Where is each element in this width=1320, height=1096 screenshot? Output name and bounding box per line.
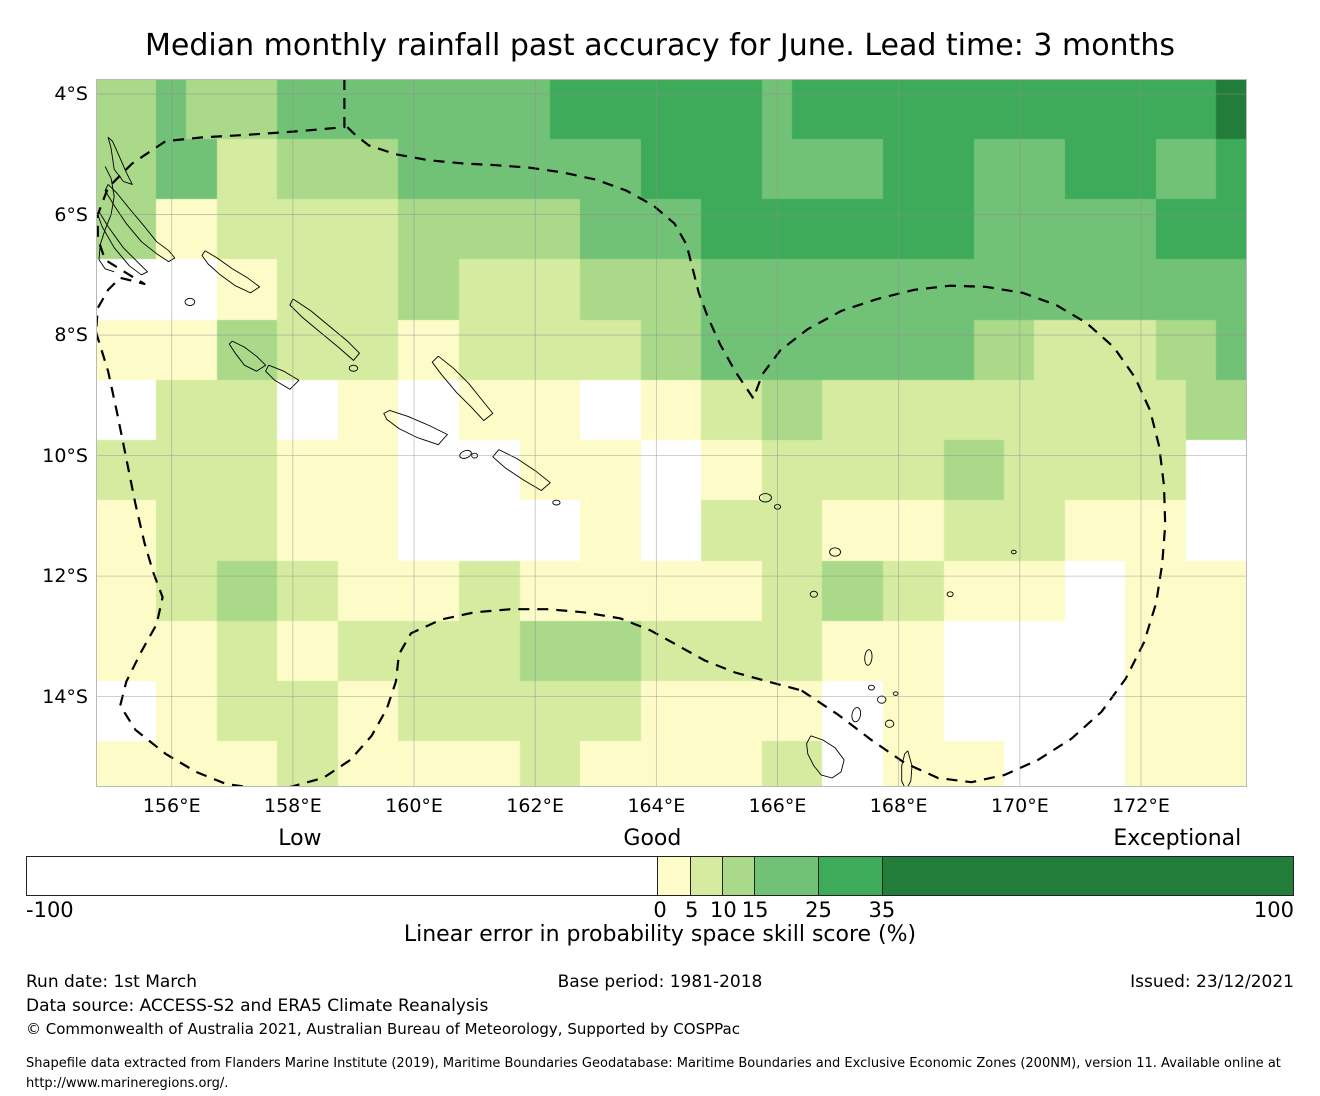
colorbar-tick-5: 25 [805,898,832,922]
colorbar-tick-0: -100 [26,898,74,922]
colorbar-tick-4: 15 [742,898,769,922]
x-axis-tick-1: 158°E [264,795,322,817]
colorbar-category-low: Low [278,826,321,851]
x-axis-tick-2: 160°E [385,795,443,817]
graticule-gridlines [96,79,1247,787]
colorbar-tick-7: 100 [1254,898,1294,922]
colorbar-segment-4 [754,857,818,895]
copyright-notice: © Commonwealth of Australia 2021, Austra… [26,1020,740,1038]
x-axis-tick-8: 172°E [1112,795,1170,817]
x-axis-tick-4: 164°E [627,795,685,817]
y-axis-tick-3: 10°S [42,445,88,467]
y-axis-tick-2: 8°S [54,324,88,346]
colorbar-tick-3: 10 [710,898,737,922]
x-axis-tick-0: 156°E [143,795,201,817]
shapefile-attribution-line1: Shapefile data extracted from Flanders M… [26,1056,1281,1071]
y-axis-tick-1: 6°S [54,204,88,226]
colorbar-segment-6 [882,857,1293,895]
shapefile-attribution-line2: http://www.marineregions.org/. [26,1076,228,1091]
footer: Run date: 1st March Base period: 1981-20… [0,972,1320,1096]
colorbar-category-exceptional: Exceptional [1113,826,1241,851]
colorbar-segment-2 [690,857,722,895]
x-axis-tick-5: 166°E [749,795,807,817]
longitude-axis: 156°E158°E160°E162°E164°E166°E168°E170°E… [0,795,1320,825]
colorbar-tick-6: 35 [869,898,896,922]
y-axis-tick-4: 12°S [42,565,88,587]
colorbar-axis-label: Linear error in probability space skill … [0,922,1320,947]
colorbar-category-good: Good [623,826,681,851]
data-source: Data source: ACCESS-S2 and ERA5 Climate … [26,996,488,1016]
colorbar-segment-0 [27,857,657,895]
colorbar-segment-1 [657,857,689,895]
map-plot-area [96,79,1247,787]
colorbar-tick-2: 5 [685,898,698,922]
colorbar-segment-3 [722,857,754,895]
x-axis-tick-7: 170°E [991,795,1049,817]
x-axis-tick-3: 162°E [506,795,564,817]
colorbar [26,856,1294,896]
base-period: Base period: 1981-2018 [0,972,1320,992]
page-title: Median monthly rainfall past accuracy fo… [0,28,1320,63]
issued-date: Issued: 23/12/2021 [1130,972,1294,992]
colorbar-gradient [26,856,1294,896]
y-axis-tick-0: 4°S [54,83,88,105]
y-axis-tick-5: 14°S [42,686,88,708]
colorbar-tick-1: 0 [653,898,666,922]
x-axis-tick-6: 168°E [870,795,928,817]
colorbar-segment-5 [818,857,882,895]
